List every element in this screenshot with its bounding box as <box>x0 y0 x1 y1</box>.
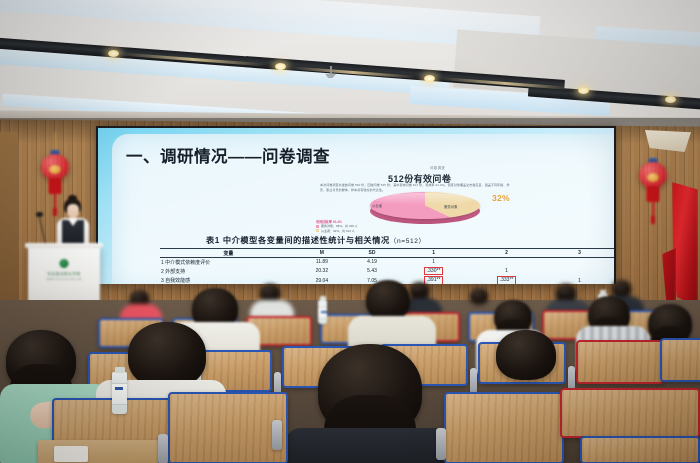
wall-edge-panel <box>0 132 18 307</box>
col-3: 3 <box>543 249 614 258</box>
seat-armrest <box>436 428 446 460</box>
seat-back[interactable] <box>560 388 700 438</box>
cell-corr-2 <box>470 258 543 267</box>
pie-percent-label: 32% <box>492 193 510 203</box>
cell-corr-2-highlighted: .333** <box>470 276 543 284</box>
slide-content-card: 一、调研情况——问卷调查 问卷调查 512份有效问卷 本次问卷调查共发放问卷 5… <box>112 134 614 284</box>
ceiling-spotlight <box>578 87 589 94</box>
legend-swatch-icon <box>316 229 319 232</box>
seat-back[interactable] <box>576 340 664 384</box>
seat-back[interactable] <box>660 338 700 382</box>
cell-variable: 3 自我效能感 <box>160 276 297 284</box>
seat-back[interactable] <box>580 436 700 463</box>
water-bottle[interactable] <box>318 300 327 324</box>
ceiling-spotlight <box>275 63 286 70</box>
audience-head <box>612 280 631 297</box>
col-m: M <box>297 249 347 258</box>
table-row: 1 中介模式依赖度评价 11.89 4.19 1 <box>160 258 614 267</box>
col-sd: SD <box>347 249 397 258</box>
table-caption-main: 表1 中介模型各变量间的描述性统计与相关情况 <box>206 236 390 245</box>
podium-top-surface <box>25 243 103 248</box>
ceiling-spotlight <box>665 96 676 103</box>
pie-label-right: 服务对象 <box>444 204 458 209</box>
cell-corr-1: 1 <box>397 258 470 267</box>
slide-pie-section: 问卷调查 512份有效问卷 本次问卷调查共发放问卷 560 份，回收问卷 545… <box>312 167 512 235</box>
legend-swatch-icon <box>316 225 319 228</box>
highlight-box: .391** <box>424 276 444 284</box>
pie-legend: 有效回收率 91.4% 服务对象：68%，共 348 人 从业者：32%，共 1… <box>316 219 516 233</box>
cell-corr-1-highlighted: .391** <box>397 276 470 284</box>
audience-body-foreground <box>286 428 456 463</box>
podium-institution-en: HEBEI POLITICS AND LAW <box>28 278 100 281</box>
ceiling-spotlight <box>424 75 435 82</box>
pie-highlight <box>374 193 474 205</box>
audience-head <box>470 288 488 304</box>
audience-head <box>496 330 556 380</box>
stats-table: 变量 M SD 1 2 3 1 中介模式依赖度评价 11.89 <box>160 248 614 284</box>
lecture-hall-photo: 一、调研情况——问卷调查 问卷调查 512份有效问卷 本次问卷调查共发放问卷 5… <box>0 0 700 463</box>
slide-table-section: 表1 中介模型各变量间的描述性统计与相关情况（n=512） 变量 M SD 1 … <box>160 234 614 284</box>
cell-variable: 1 中介模式依赖度评价 <box>160 258 297 267</box>
pie-kicker-text: 问卷调查 <box>430 165 445 170</box>
water-bottle[interactable] <box>112 372 127 414</box>
audience-head-foreground <box>318 344 422 436</box>
audience-head <box>494 300 532 334</box>
institution-emblem-icon <box>59 258 70 269</box>
seat-armrest <box>272 420 282 450</box>
red-lantern-right <box>636 140 670 232</box>
highlight-box: .333** <box>497 276 517 284</box>
bottle-label <box>112 383 127 405</box>
cell-corr-3 <box>543 258 614 267</box>
bottle-cap <box>115 367 125 373</box>
highlight-box: .330** <box>424 267 444 275</box>
cell-variable: 2 外部支持 <box>160 266 297 275</box>
table-caption: 表1 中介模型各变量间的描述性统计与相关情况（n=512） <box>206 234 614 246</box>
col-variable: 变量 <box>160 249 297 258</box>
tissue <box>54 446 88 462</box>
audience-head <box>410 282 429 299</box>
lantern-tassel-end <box>651 216 655 224</box>
audience-head <box>128 322 206 388</box>
cell-sd: 4.19 <box>347 258 397 267</box>
podium-institution-name: 河北政法职业学院 <box>28 272 100 277</box>
seat-back[interactable] <box>444 392 564 463</box>
slide-surface: 一、调研情况——问卷调查 问卷调查 512份有效问卷 本次问卷调查共发放问卷 5… <box>98 128 614 284</box>
cell-m: 29.04 <box>297 276 347 284</box>
audience-head <box>366 280 410 320</box>
cell-corr-3: 1 <box>543 276 614 284</box>
lantern-center-ornament <box>49 165 61 174</box>
table-caption-n: （n=512） <box>390 238 426 245</box>
table-row: 2 外部支持 20.32 5.43 .330** 1 <box>160 266 614 275</box>
projection-screen: 一、调研情况——问卷调查 问卷调查 512份有效问卷 本次问卷调查共发放问卷 5… <box>96 126 616 284</box>
audience-head <box>6 330 76 392</box>
cell-corr-1-highlighted: .330** <box>397 266 470 275</box>
cell-corr-2: 1 <box>470 266 543 275</box>
pie-label-left: 从业者 <box>372 203 382 208</box>
slide-title: 一、调研情况——问卷调查 <box>126 143 330 167</box>
cell-sd: 5.43 <box>347 266 397 275</box>
cell-m: 11.89 <box>297 258 347 267</box>
col-2: 2 <box>470 249 543 258</box>
seat-armrest <box>158 434 168 463</box>
lantern-center-ornament <box>647 173 659 182</box>
col-1: 1 <box>397 249 470 258</box>
table-header-row: 变量 M SD 1 2 3 <box>160 249 614 258</box>
seat-back[interactable] <box>168 392 288 463</box>
seat-armrest <box>470 368 477 394</box>
cell-corr-3 <box>543 266 614 275</box>
legend-label: 从业者：32%，共 164 人 <box>321 229 355 234</box>
cell-m: 20.32 <box>297 266 347 275</box>
legend-item: 从业者：32%，共 164 人 <box>316 229 516 234</box>
